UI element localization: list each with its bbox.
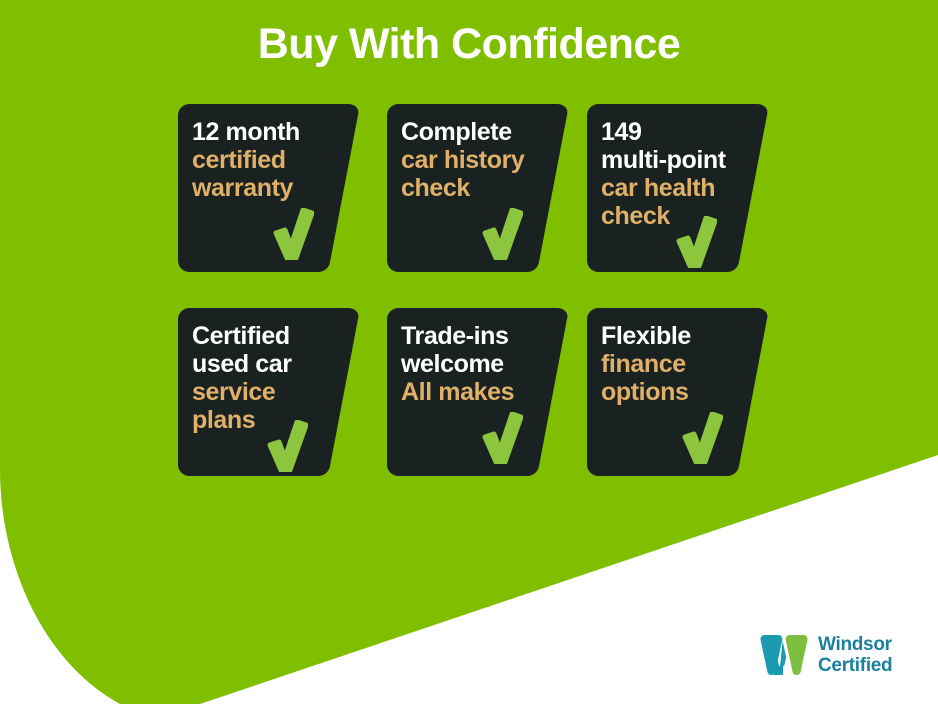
card-text-block: 149multi-pointcar healthcheck xyxy=(601,118,753,230)
card-text-line: car history xyxy=(401,146,553,174)
feature-card-flexible-finance-options[interactable]: Flexiblefinanceoptions xyxy=(587,308,769,476)
card-text-line: certified xyxy=(192,146,344,174)
check-mark-icon xyxy=(272,208,314,260)
card-text-line: Trade-ins xyxy=(401,322,553,350)
card-text-line: Complete xyxy=(401,118,553,146)
check-mark-icon xyxy=(481,412,523,464)
slide-canvas: Buy With Confidence 12 monthcertifiedwar… xyxy=(0,0,938,704)
card-text-block: 12 monthcertifiedwarranty xyxy=(192,118,344,202)
card-text-line: options xyxy=(601,378,753,406)
card-text-line: warranty xyxy=(192,174,344,202)
card-text-line: Flexible xyxy=(601,322,753,350)
card-text-line: welcome xyxy=(401,350,553,378)
page-title: Buy With Confidence xyxy=(0,18,938,70)
check-mark-icon xyxy=(481,208,523,260)
feature-card-grid: 12 monthcertifiedwarrantyCompletecar his… xyxy=(178,104,778,476)
check-mark-icon xyxy=(681,412,723,464)
feature-card-certified-used-car-service-plans[interactable]: Certifiedused carserviceplans xyxy=(178,308,360,476)
card-text-line: All makes xyxy=(401,378,553,406)
feature-card-complete-car-history-check[interactable]: Completecar historycheck xyxy=(387,104,569,272)
feature-card-12-month-certified-warranty[interactable]: 12 monthcertifiedwarranty xyxy=(178,104,360,272)
card-text-line: finance xyxy=(601,350,753,378)
card-text-line: Certified xyxy=(192,322,344,350)
check-mark-icon xyxy=(675,216,717,268)
logo-line-windsor: Windsor xyxy=(818,634,892,655)
card-text-line: car health xyxy=(601,174,753,202)
windsor-w-logo-icon xyxy=(760,632,808,678)
logo-wordmark: Windsor Certified xyxy=(818,634,892,676)
card-text-block: Completecar historycheck xyxy=(401,118,553,202)
card-text-line: service xyxy=(192,378,344,406)
feature-card-149-multi-point-car-health-check[interactable]: 149multi-pointcar healthcheck xyxy=(587,104,769,272)
card-text-block: Certifiedused carserviceplans xyxy=(192,322,344,434)
card-text-line: multi-point xyxy=(601,146,753,174)
card-text-line: used car xyxy=(192,350,344,378)
card-text-line: check xyxy=(401,174,553,202)
feature-card-trade-ins-welcome-all-makes[interactable]: Trade-inswelcomeAll makes xyxy=(387,308,569,476)
check-mark-icon xyxy=(266,420,308,472)
windsor-certified-logo: Windsor Certified xyxy=(760,626,928,684)
logo-line-certified: Certified xyxy=(818,655,892,676)
card-text-block: Trade-inswelcomeAll makes xyxy=(401,322,553,406)
card-text-block: Flexiblefinanceoptions xyxy=(601,322,753,406)
card-text-line: 12 month xyxy=(192,118,344,146)
card-text-line: 149 xyxy=(601,118,753,146)
